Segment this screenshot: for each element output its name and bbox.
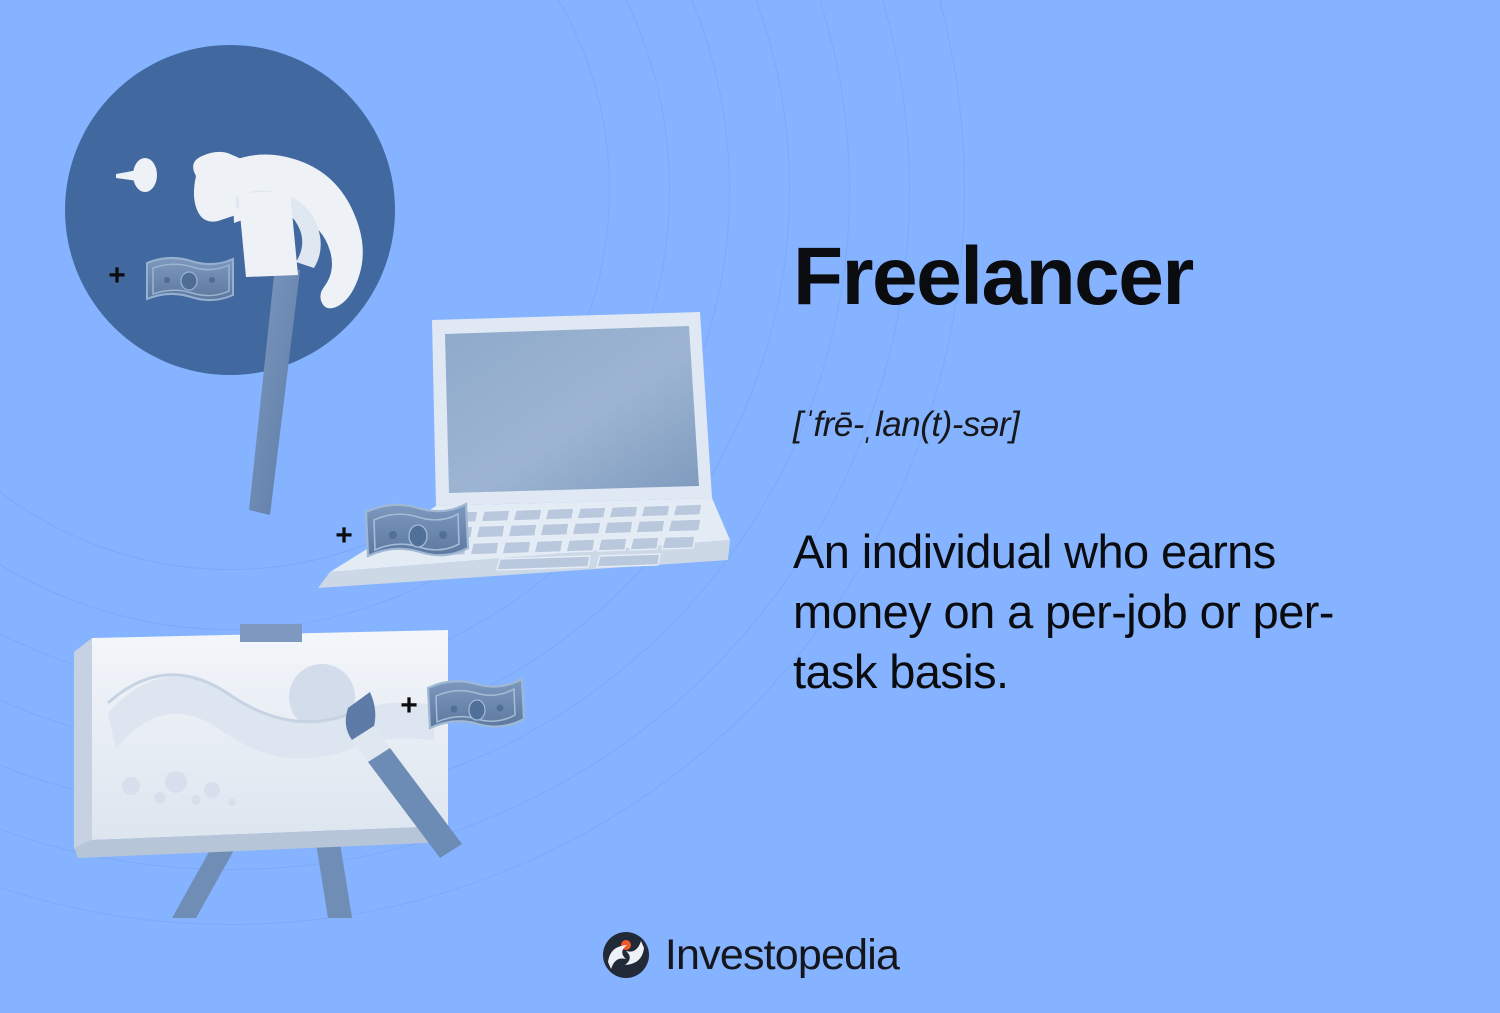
laptop-scene: +	[318, 312, 730, 588]
banknote-hammer	[147, 258, 233, 300]
canvas-side	[74, 638, 92, 848]
term-pronunciation: [ˈfrē-ˌlan(t)-sər]	[793, 405, 1019, 445]
illustration-panel: +	[0, 0, 760, 940]
hammer-scene: +	[65, 45, 395, 515]
canvas-clip	[240, 624, 302, 642]
freelancer-illustration: +	[0, 0, 760, 940]
plus-sign-hammer: +	[108, 259, 126, 292]
brand-footer: Investopedia	[0, 930, 1500, 980]
plus-sign-easel: +	[400, 689, 418, 722]
definition-text-panel: Freelancer [ˈfrē-ˌlan(t)-sər] An individ…	[790, 0, 1430, 940]
easel-scene: +	[74, 624, 524, 918]
brand-name: Investopedia	[665, 934, 899, 977]
definition-card: +	[0, 0, 1500, 1013]
term-definition: An individual who earns money on a per-j…	[793, 522, 1403, 702]
term-title: Freelancer	[793, 236, 1193, 318]
laptop-screen	[445, 326, 699, 493]
banknote-laptop	[366, 504, 468, 556]
investopedia-logo-icon	[601, 930, 651, 980]
plus-sign-laptop: +	[335, 519, 353, 552]
banknote-easel	[428, 679, 524, 728]
